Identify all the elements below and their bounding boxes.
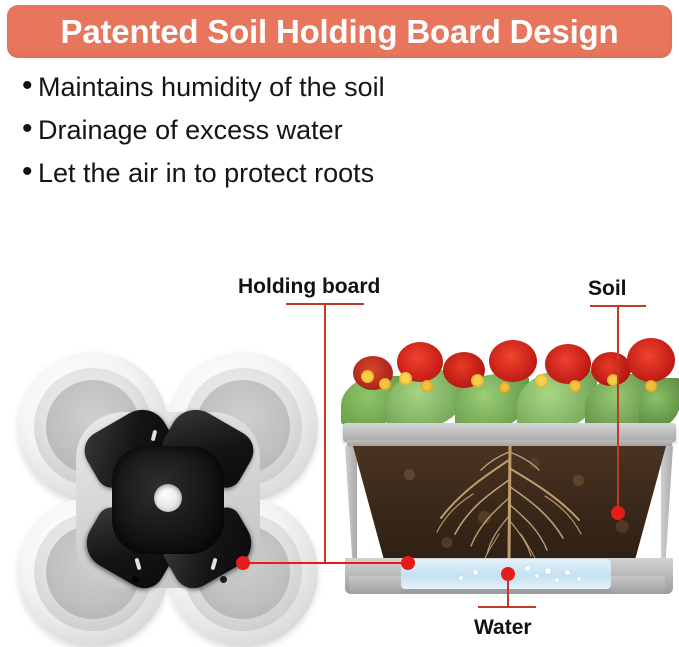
red-chrysanthemum [489,340,537,382]
bullet-icon: • [22,113,38,145]
orange-accent-flower [471,374,484,387]
bullet-icon: • [22,156,38,188]
tray-foot-right [611,576,665,594]
water-bubble [459,576,463,580]
root-system [353,446,666,562]
water-bubble [555,578,559,582]
water-label-overline [478,606,536,608]
header-banner: Patented Soil Holding Board Design [7,5,672,58]
orange-accent-flower [645,380,657,392]
orange-accent-flower [379,378,391,390]
list-item: • Drainage of excess water [22,113,662,147]
flower-cluster [339,330,679,430]
holding-board-leader-vertical [324,303,326,563]
callout-label-holding-board: Holding board [238,275,380,299]
board-center-hole [154,484,182,512]
list-item: • Let the air in to protect roots [22,156,662,190]
callout-label-soil: Soil [588,277,627,301]
holding-board-marker-right [401,556,415,570]
clover-planter-photo [12,352,324,647]
feature-text: Drainage of excess water [38,113,343,147]
water-leader-vertical [507,574,509,607]
callout-label-water: Water [474,616,532,640]
orange-accent-flower [499,382,510,393]
orange-accent-flower [361,370,374,383]
orange-accent-flower [569,380,581,392]
water-bubble [473,570,478,575]
holding-board-leader-horizontal [242,562,410,564]
feature-list: • Maintains humidity of the soil • Drain… [22,70,662,199]
water-bubble [535,574,539,578]
tray-foot-left [349,576,401,594]
red-chrysanthemum [545,344,591,384]
page-title: Patented Soil Holding Board Design [61,15,619,48]
board-drain-hole-right [220,576,227,583]
soil-holding-board [74,408,262,592]
orange-accent-flower [399,372,412,385]
soil-marker [611,506,625,520]
orange-accent-flower [535,374,548,387]
list-item: • Maintains humidity of the soil [22,70,662,104]
feature-text: Let the air in to protect roots [38,156,374,190]
soil-leader-vertical [617,305,619,513]
board-drain-hole-left [132,576,139,583]
bullet-icon: • [22,70,38,102]
water-bubble [577,577,581,581]
water-bubble [525,566,530,571]
orange-accent-flower [421,380,433,392]
red-chrysanthemum [627,338,675,382]
water-bubble [565,570,570,575]
holding-board-marker-left [236,556,250,570]
water-bubble [545,568,551,574]
planter-crosssection-photo [339,330,679,598]
feature-text: Maintains humidity of the soil [38,70,385,104]
